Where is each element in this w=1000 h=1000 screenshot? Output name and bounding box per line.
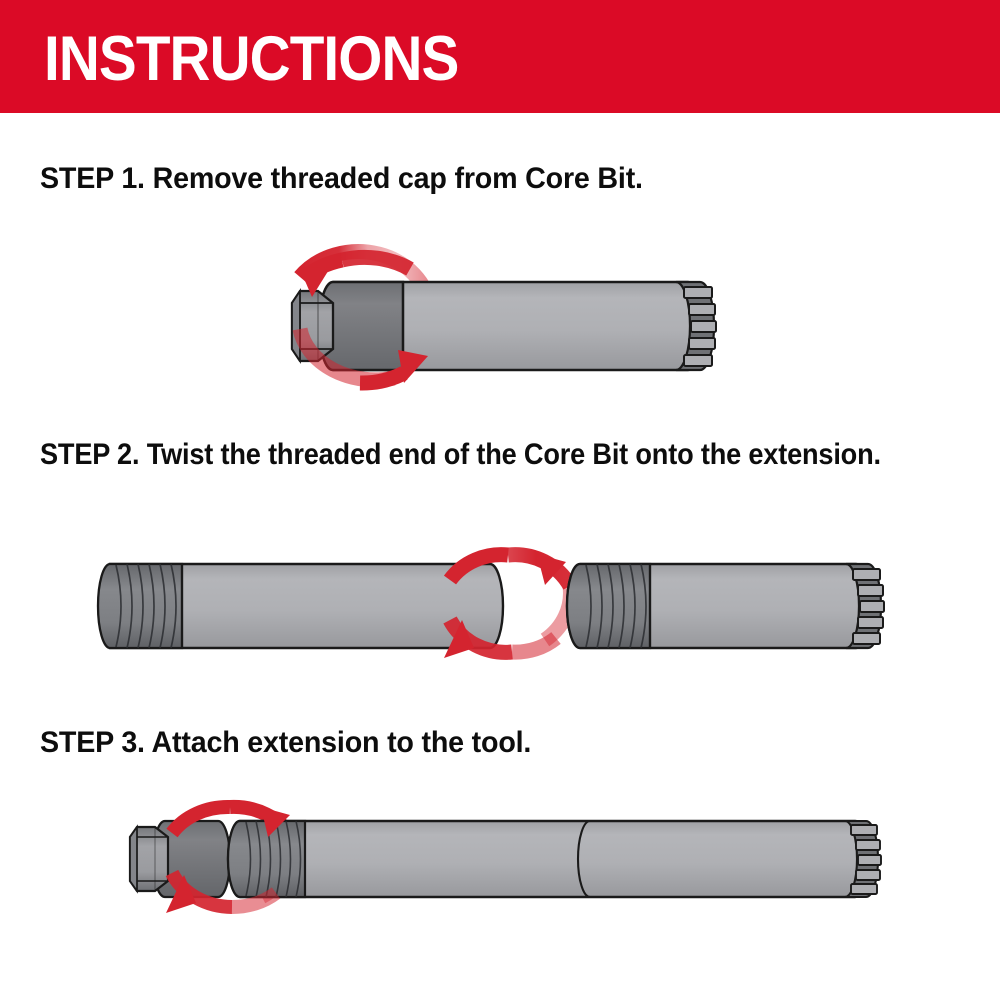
header-banner: INSTRUCTIONS [0,0,1000,113]
step-1-figure [0,225,1000,400]
extension-thread [228,821,305,897]
extension-male-thread [98,564,182,648]
core-bit-female-thread [567,564,650,648]
step-3-figure [0,785,1000,945]
step-2-heading: STEP 2. Twist the threaded end of the Co… [40,438,881,472]
extension-core-bit-assembly [228,821,881,897]
core-bit [292,282,716,370]
instructions-page: INSTRUCTIONS STEP 1. Remove threaded cap… [0,0,1000,1000]
step-2-figure [0,510,1000,690]
step-1-heading: STEP 1. Remove threaded cap from Core Bi… [40,162,643,196]
assembly-barrel [228,821,867,897]
core-bit-assembly [567,564,884,648]
rotation-arrow-back [508,555,570,640]
step-3-heading: STEP 3. Attach extension to the tool. [40,726,531,760]
extension-rod-assembly [98,564,503,648]
page-title: INSTRUCTIONS [44,28,458,91]
